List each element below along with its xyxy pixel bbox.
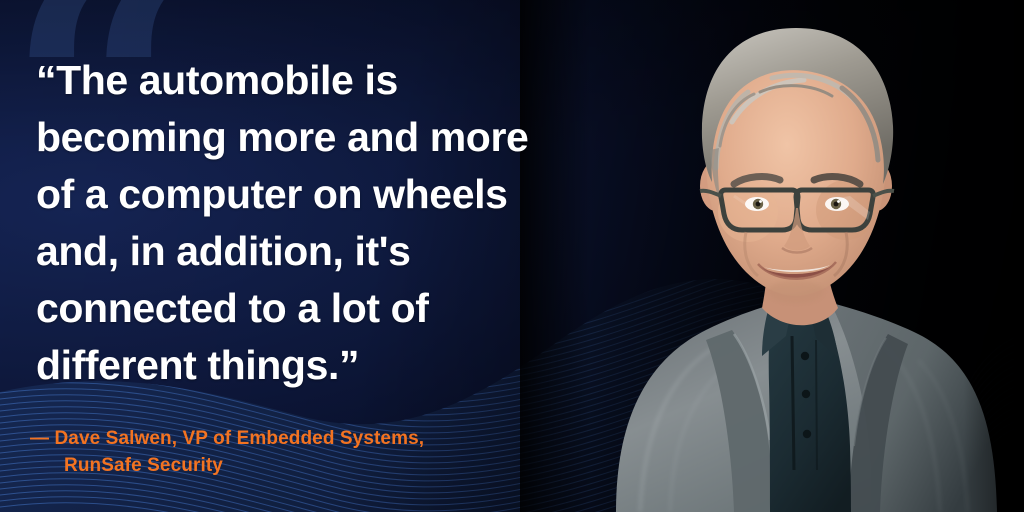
attribution-line-1: — Dave Salwen, VP of Embedded Systems, <box>30 425 550 452</box>
quote-line: different things.” <box>36 337 596 394</box>
quote-line: connected to a lot of <box>36 280 596 337</box>
quote-attribution: — Dave Salwen, VP of Embedded Systems, R… <box>30 425 550 479</box>
quote-line: and, in addition, it's <box>36 223 596 280</box>
quote-line: of a computer on wheels <box>36 166 596 223</box>
quote-card: “ <box>0 0 1024 512</box>
quote-line: becoming more and more <box>36 109 596 166</box>
quote-line: “The automobile is <box>36 52 596 109</box>
attribution-line-2: RunSafe Security <box>30 452 550 479</box>
quote-text: “The automobile is becoming more and mor… <box>36 52 596 394</box>
